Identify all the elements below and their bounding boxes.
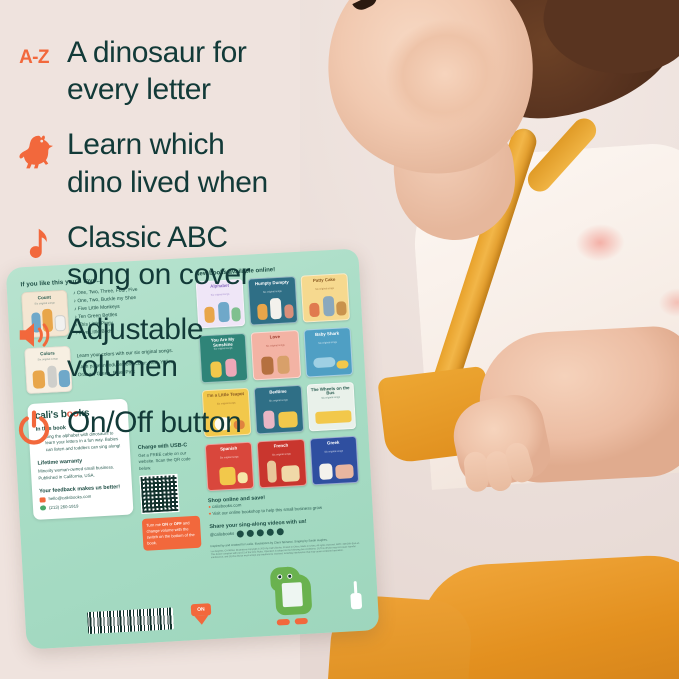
music-note-icon	[14, 219, 54, 263]
az-letters-icon: A-Z	[14, 34, 54, 78]
feature-text: On/Off button	[67, 404, 241, 441]
feature-row-power: On/Off button	[14, 404, 330, 448]
feature-text: Learn which dino lived when	[67, 126, 268, 200]
t-rex-dinosaur-icon	[14, 126, 54, 170]
feature-row-volume: Adjustable volumen	[14, 311, 330, 385]
feature-row-dino-era: Learn which dino lived when	[14, 126, 330, 200]
feature-text: Adjustable volumen	[67, 311, 203, 385]
toddler-cheek	[375, 8, 515, 141]
speaker-volume-icon	[14, 311, 54, 355]
toddler-eye	[352, 0, 380, 13]
feature-row-abc-song: Classic ABC song on cover	[14, 219, 330, 293]
power-on-off-icon	[14, 404, 54, 448]
usb-cable-icon	[350, 593, 362, 610]
feature-text: Classic ABC song on cover	[67, 219, 250, 293]
feature-list: A-Z A dinosaur for every letter Learn wh…	[0, 0, 330, 679]
az-label: A-Z	[19, 47, 49, 69]
feature-row-alphabet: A-Z A dinosaur for every letter	[14, 34, 330, 108]
product-infographic: If you like this you'll love... Count Si…	[0, 0, 679, 679]
feature-text: A dinosaur for every letter	[67, 34, 247, 108]
